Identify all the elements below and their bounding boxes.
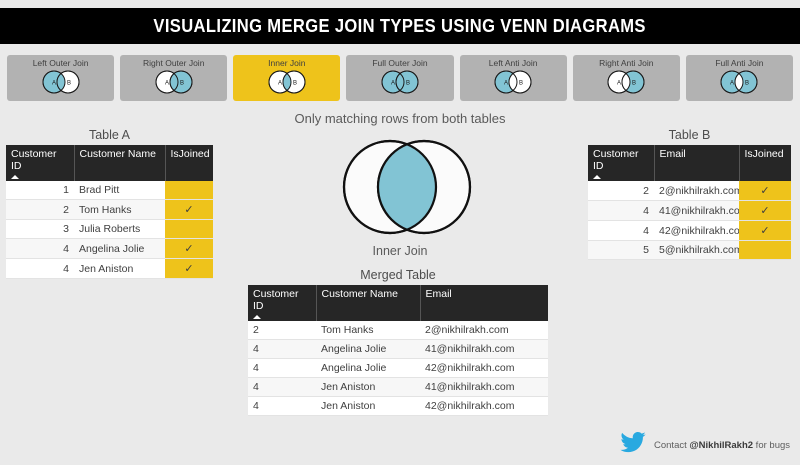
merged-col-customer-name-label: Customer Name (322, 288, 398, 300)
join-button-inner[interactable]: Inner Join A B (233, 55, 340, 101)
sort-ascending-icon (253, 315, 261, 319)
table-b: Customer ID Email IsJoined 22@nikhilrakh… (588, 145, 791, 260)
merged-table-row[interactable]: 4Jen Aniston41@nikhilrakh.com (248, 378, 548, 397)
join-button-label: Full Anti Join (715, 58, 763, 69)
cell-isjoined: ✓ (739, 181, 791, 201)
table-b-col-customer-id-label: Customer ID (593, 148, 639, 172)
cell-customer-name: Tom Hanks (74, 200, 165, 220)
join-button-full-outer[interactable]: Full Outer Join A B (346, 55, 453, 101)
join-button-venn-icon: A B (378, 69, 422, 99)
svg-text:A: A (52, 81, 56, 87)
cell-customer-id: 4 (6, 239, 74, 259)
cell-customer-name: Angelina Jolie (74, 239, 165, 259)
merged-table: Customer ID Customer Name Email 2Tom Han… (248, 285, 548, 416)
cell-customer-id: 2 (588, 181, 654, 201)
cell-customer-id: 2 (248, 321, 316, 340)
join-button-right-anti[interactable]: Right Anti Join A B (573, 55, 680, 101)
merged-table-row[interactable]: 4Angelina Jolie42@nikhilrakh.com (248, 359, 548, 378)
cell-customer-name: Angelina Jolie (316, 359, 420, 378)
table-b-row[interactable]: 22@nikhilrakh.com✓ (588, 181, 791, 201)
svg-text:A: A (278, 81, 282, 87)
cell-email: 41@nikhilrakh.com (420, 340, 548, 359)
cell-isjoined: ✓ (739, 221, 791, 241)
cell-customer-id: 2 (6, 200, 74, 220)
merged-table-row[interactable]: 4Angelina Jolie41@nikhilrakh.com (248, 340, 548, 359)
twitter-bird-icon[interactable] (620, 432, 646, 458)
table-a-row[interactable]: 4Jen Aniston✓ (6, 259, 213, 279)
cell-customer-id: 4 (248, 378, 316, 397)
table-a-row[interactable]: 2Tom Hanks✓ (6, 200, 213, 220)
svg-text:A: A (730, 81, 734, 87)
svg-text:B: B (632, 81, 636, 87)
table-b-header-row: Customer ID Email IsJoined (588, 145, 791, 181)
venn-caption: Only matching rows from both tables (0, 111, 800, 126)
cell-isjoined: ✓ (165, 259, 213, 279)
footer-handle[interactable]: @NikhilRakh2 (689, 440, 753, 451)
table-a-col-customer-name-label: Customer Name (80, 148, 156, 160)
merged-col-customer-name[interactable]: Customer Name (316, 285, 420, 321)
cell-email: 2@nikhilrakh.com (420, 321, 548, 340)
table-a-row[interactable]: 4Angelina Jolie✓ (6, 239, 213, 259)
cell-customer-name: Jen Aniston (74, 259, 165, 279)
svg-text:A: A (617, 81, 621, 87)
join-button-venn-icon: A B (265, 69, 309, 99)
svg-text:B: B (406, 81, 410, 87)
merged-table-container: Merged Table Customer ID Customer Name E… (248, 268, 548, 416)
main-venn-diagram (330, 135, 480, 240)
merged-col-customer-id[interactable]: Customer ID (248, 285, 316, 321)
join-button-label: Right Anti Join (599, 58, 653, 69)
sort-ascending-icon (11, 175, 19, 179)
cell-isjoined: ✓ (165, 239, 213, 259)
merged-col-customer-id-label: Customer ID (253, 288, 299, 312)
merged-table-row[interactable]: 2Tom Hanks2@nikhilrakh.com (248, 321, 548, 340)
cell-customer-id: 4 (6, 259, 74, 279)
cell-customer-id: 4 (588, 201, 654, 221)
join-button-left-outer[interactable]: Left Outer Join A B (7, 55, 114, 101)
svg-text:B: B (745, 81, 749, 87)
join-button-label: Inner Join (268, 58, 305, 69)
table-b-row[interactable]: 441@nikhilrakh.com✓ (588, 201, 791, 221)
join-button-label: Left Anti Join (489, 58, 538, 69)
cell-customer-id: 4 (588, 221, 654, 241)
table-a-col-isjoined[interactable]: IsJoined (165, 145, 213, 181)
table-a-container: Table A Customer ID Customer Name IsJoin… (6, 128, 213, 279)
footer-text-prefix: Contact (654, 440, 689, 451)
report-canvas: VISUALIZING MERGE JOIN TYPES USING VENN … (0, 0, 800, 465)
join-button-right-outer[interactable]: Right Outer Join A B (120, 55, 227, 101)
cell-customer-id: 4 (248, 359, 316, 378)
table-b-row[interactable]: 55@nikhilrakh.com (588, 241, 791, 260)
cell-isjoined (739, 241, 791, 260)
cell-customer-id: 4 (248, 397, 316, 416)
table-a-row[interactable]: 3Julia Roberts (6, 220, 213, 239)
svg-text:B: B (293, 81, 297, 87)
cell-customer-id: 4 (248, 340, 316, 359)
svg-text:A: A (391, 81, 395, 87)
svg-text:A: A (165, 81, 169, 87)
table-b-col-email-label: Email (660, 148, 686, 160)
merged-col-email[interactable]: Email (420, 285, 548, 321)
cell-customer-name: Julia Roberts (74, 220, 165, 239)
join-button-venn-icon: A B (491, 69, 535, 99)
cell-customer-name: Jen Aniston (316, 397, 420, 416)
table-a-title: Table A (6, 128, 213, 142)
join-button-label: Right Outer Join (143, 58, 204, 69)
cell-customer-name: Jen Aniston (316, 378, 420, 397)
table-b-container: Table B Customer ID Email IsJoined (588, 128, 791, 260)
table-a-row[interactable]: 1Brad Pitt (6, 181, 213, 200)
merged-table-row[interactable]: 4Jen Aniston42@nikhilrakh.com (248, 397, 548, 416)
cell-isjoined (165, 220, 213, 239)
footer: Contact @NikhilRakh2 for bugs (620, 432, 790, 458)
cell-email: 2@nikhilrakh.com (654, 181, 739, 201)
svg-text:B: B (180, 81, 184, 87)
table-a-col-isjoined-label: IsJoined (171, 148, 210, 160)
cell-isjoined: ✓ (739, 201, 791, 221)
join-button-label: Full Outer Join (372, 58, 427, 69)
join-type-button-row: Left Outer Join A B Right Outer Join A B… (7, 55, 793, 101)
cell-email: 42@nikhilrakh.com (654, 221, 739, 241)
cell-customer-id: 1 (6, 181, 74, 200)
table-b-row[interactable]: 442@nikhilrakh.com✓ (588, 221, 791, 241)
cell-customer-id: 5 (588, 241, 654, 260)
join-button-full-anti[interactable]: Full Anti Join A B (686, 55, 793, 101)
table-a-header-row: Customer ID Customer Name IsJoined (6, 145, 213, 181)
join-button-venn-icon: A B (604, 69, 648, 99)
page-title-bar: VISUALIZING MERGE JOIN TYPES USING VENN … (0, 8, 800, 44)
table-a-col-customer-id-label: Customer ID (11, 148, 57, 172)
table-b-col-isjoined[interactable]: IsJoined (739, 145, 791, 181)
svg-text:B: B (67, 81, 71, 87)
cell-email: 5@nikhilrakh.com (654, 241, 739, 260)
join-button-venn-icon: A B (39, 69, 83, 99)
footer-contact-text: Contact @NikhilRakh2 for bugs (654, 440, 790, 451)
merged-col-email-label: Email (426, 288, 452, 300)
table-b-col-email[interactable]: Email (654, 145, 739, 181)
footer-text-suffix: for bugs (753, 440, 790, 451)
cell-isjoined (165, 181, 213, 200)
cell-customer-id: 3 (6, 220, 74, 239)
table-a: Customer ID Customer Name IsJoined 1Brad… (6, 145, 213, 279)
cell-isjoined: ✓ (165, 200, 213, 220)
merged-table-title: Merged Table (248, 268, 548, 282)
cell-email: 41@nikhilrakh.com (654, 201, 739, 221)
sort-ascending-icon (593, 175, 601, 179)
join-button-label: Left Outer Join (33, 58, 89, 69)
table-b-col-customer-id[interactable]: Customer ID (588, 145, 654, 181)
table-b-title: Table B (588, 128, 791, 142)
cell-customer-name: Angelina Jolie (316, 340, 420, 359)
cell-customer-name: Tom Hanks (316, 321, 420, 340)
cell-email: 41@nikhilrakh.com (420, 378, 548, 397)
table-a-col-customer-id[interactable]: Customer ID (6, 145, 74, 181)
join-button-left-anti[interactable]: Left Anti Join A B (460, 55, 567, 101)
merged-table-header-row: Customer ID Customer Name Email (248, 285, 548, 321)
svg-text:A: A (504, 81, 508, 87)
page-title: VISUALIZING MERGE JOIN TYPES USING VENN … (154, 16, 646, 37)
join-button-venn-icon: A B (152, 69, 196, 99)
table-b-col-isjoined-label: IsJoined (745, 148, 784, 160)
cell-email: 42@nikhilrakh.com (420, 397, 548, 416)
table-a-col-customer-name[interactable]: Customer Name (74, 145, 165, 181)
join-button-venn-icon: A B (717, 69, 761, 99)
cell-customer-name: Brad Pitt (74, 181, 165, 200)
cell-email: 42@nikhilrakh.com (420, 359, 548, 378)
svg-text:B: B (519, 81, 523, 87)
